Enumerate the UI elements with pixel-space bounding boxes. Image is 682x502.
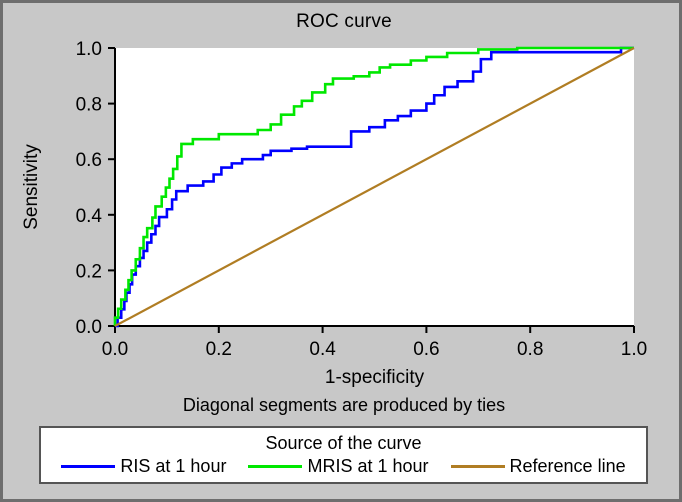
chart-footnote: Diagonal segments are produced by ties (3, 395, 682, 416)
x-axis-tick-label: 0.6 (413, 339, 439, 360)
y-axis-tick-label: 0.8 (76, 95, 102, 116)
x-axis-tick-label: 0.4 (309, 339, 336, 360)
legend-color-swatch (248, 465, 302, 468)
x-axis-tick-label: 0.0 (102, 339, 128, 360)
legend-color-swatch (451, 465, 505, 468)
y-axis-tick-label: 0.0 (76, 317, 102, 338)
y-axis-tick-label: 0.6 (76, 150, 102, 171)
legend-color-swatch (61, 465, 115, 468)
legend-item-label: Reference line (510, 456, 626, 477)
x-axis-tick-label: 0.8 (517, 339, 543, 360)
plot-area: 0.00.20.40.60.81.00.00.20.40.60.81.01-sp… (3, 3, 682, 395)
legend-item-label: MRIS at 1 hour (307, 456, 428, 477)
legend-box: Source of the curve RIS at 1 hourMRIS at… (39, 426, 648, 484)
y-axis-tick-label: 1.0 (76, 39, 102, 60)
y-axis-tick-label: 0.4 (76, 206, 103, 227)
legend-item[interactable]: Reference line (451, 456, 626, 477)
y-axis-tick-label: 0.2 (76, 261, 102, 282)
legend-items: RIS at 1 hourMRIS at 1 hourReference lin… (41, 456, 646, 477)
legend-item-label: RIS at 1 hour (120, 456, 226, 477)
legend-item[interactable]: MRIS at 1 hour (248, 456, 428, 477)
legend-item[interactable]: RIS at 1 hour (61, 456, 226, 477)
roc-chart-figure: ROC curve 0.00.20.40.60.81.00.00.20.40.6… (0, 0, 682, 502)
legend-title: Source of the curve (41, 431, 646, 455)
x-axis-tick-label: 0.2 (206, 339, 232, 360)
x-axis-title: 1-specificity (325, 367, 425, 388)
x-axis-tick-label: 1.0 (621, 339, 647, 360)
y-axis-title: Sensitivity (21, 144, 42, 230)
